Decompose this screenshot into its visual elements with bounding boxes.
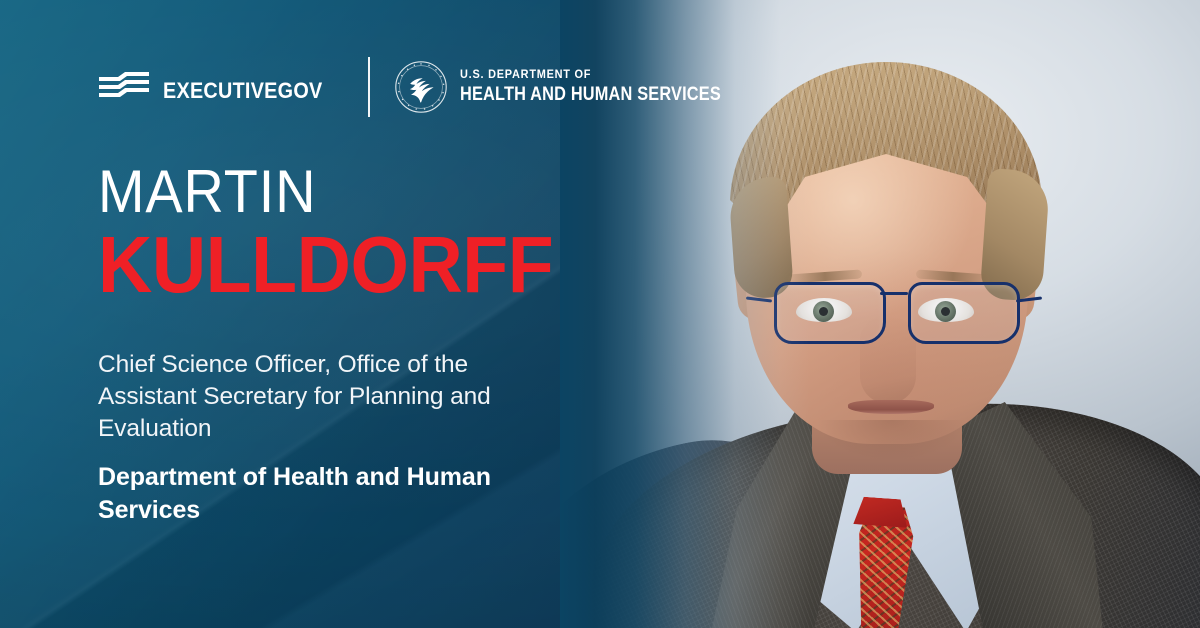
- hhs-logo[interactable]: U.S. DEPARTMENT OF HEALTH AND HUMAN SERV…: [394, 60, 763, 114]
- eyeglasses: [766, 276, 1024, 352]
- hhs-wordmark: U.S. DEPARTMENT OF HEALTH AND HUMAN SERV…: [460, 70, 763, 105]
- hhs-name-line: HEALTH AND HUMAN SERVICES: [460, 85, 721, 104]
- executivegov-wordmark: ExecutiveGov: [163, 72, 322, 103]
- eyeglasses-lens-left: [774, 282, 886, 344]
- logo-divider: [368, 57, 370, 117]
- mouth: [848, 400, 934, 414]
- person-first-name: MARTIN: [98, 163, 535, 222]
- executivegov-logo[interactable]: ExecutiveGov: [98, 70, 340, 104]
- eyeglasses-lens-right: [908, 282, 1020, 344]
- announcement-card: ExecutiveGov: [0, 0, 1200, 628]
- person-role: Chief Science Officer, Office of the Ass…: [98, 349, 528, 445]
- hhs-department-line: U.S. DEPARTMENT OF: [460, 70, 748, 82]
- chin-shadow: [818, 420, 966, 460]
- person-last-name: KULLDORFF: [98, 224, 540, 306]
- person-name: MARTIN KULLDORFF: [98, 163, 568, 305]
- eyeglasses-bridge: [880, 292, 908, 295]
- person-organization: Department of Health and Human Services: [98, 461, 528, 528]
- logo-bar: ExecutiveGov: [98, 56, 764, 118]
- hhs-seal: [394, 60, 448, 114]
- executivegov-waves-mark: [98, 70, 150, 104]
- content-panel: ExecutiveGov: [0, 0, 640, 628]
